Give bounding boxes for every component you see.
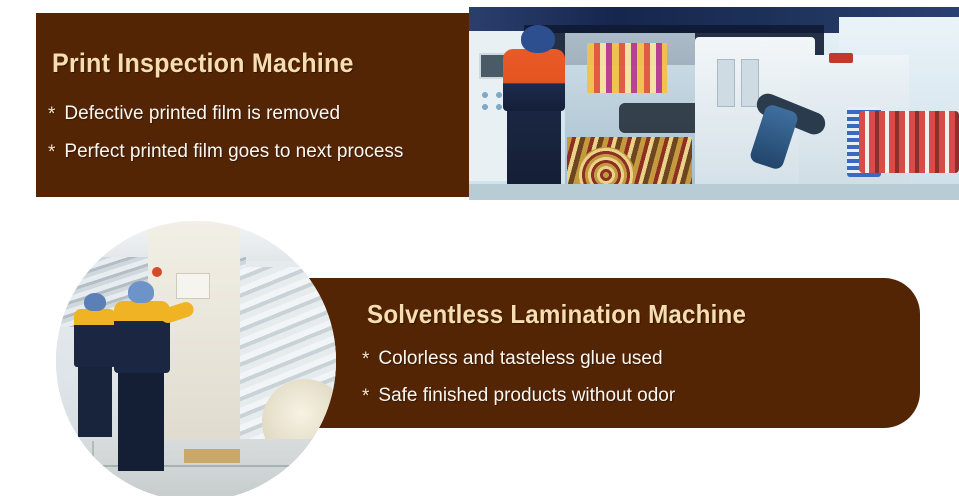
emergency-stop-indicator bbox=[829, 53, 853, 63]
bullet-star-icon: * bbox=[48, 141, 55, 162]
print-inspection-title: Print Inspection Machine bbox=[52, 48, 354, 79]
worker-torso bbox=[503, 49, 565, 111]
print-inspection-bullet-2: * Perfect printed film goes to next proc… bbox=[48, 141, 403, 163]
worker-one-head-cap bbox=[84, 293, 106, 311]
printed-film-web bbox=[587, 43, 667, 93]
worker-two-head-cap bbox=[128, 281, 154, 303]
wooden-pallet bbox=[184, 449, 240, 463]
red-patterned-roll bbox=[859, 111, 959, 173]
status-indicator-light bbox=[152, 267, 162, 277]
lamination-control-box bbox=[176, 273, 210, 299]
bullet-text: Colorless and tasteless glue used bbox=[378, 348, 662, 370]
worker-one-torso bbox=[74, 309, 116, 367]
machine-slot-right bbox=[741, 59, 759, 107]
worker-head-cap bbox=[521, 25, 555, 53]
bullet-text: Defective printed film is removed bbox=[64, 103, 340, 125]
worker-two-legs bbox=[118, 369, 164, 471]
bullet-text: Perfect printed film goes to next proces… bbox=[64, 141, 403, 163]
solventless-lamination-machine-photo bbox=[56, 221, 336, 496]
solventless-lamination-bullet-1: * Colorless and tasteless glue used bbox=[362, 348, 663, 370]
solventless-lamination-bullet-2: * Safe finished products without odor bbox=[362, 385, 675, 407]
product-capability-banner: Print Inspection Machine * Defective pri… bbox=[0, 0, 959, 496]
print-inspection-bullet-1: * Defective printed film is removed bbox=[48, 103, 340, 125]
bullet-star-icon: * bbox=[48, 103, 55, 124]
lamination-floor bbox=[56, 439, 336, 496]
bullet-star-icon: * bbox=[362, 385, 369, 406]
solventless-lamination-title: Solventless Lamination Machine bbox=[367, 299, 746, 330]
machine-slot-left bbox=[717, 59, 735, 107]
worker-one-legs bbox=[78, 363, 112, 437]
floor-joint-horizontal bbox=[56, 465, 336, 467]
factory-floor bbox=[469, 184, 959, 200]
bullet-star-icon: * bbox=[362, 348, 369, 369]
floor-joint-vertical bbox=[92, 441, 94, 496]
print-inspection-machine-photo bbox=[469, 7, 959, 200]
bullet-text: Safe finished products without odor bbox=[378, 385, 675, 407]
